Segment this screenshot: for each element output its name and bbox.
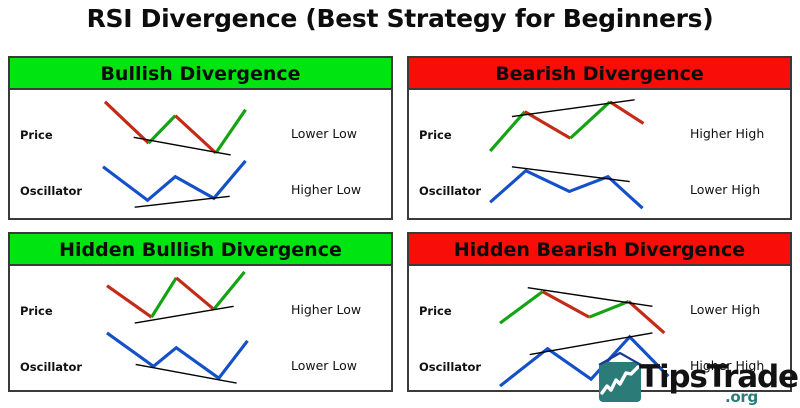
price-trendline bbox=[528, 288, 653, 307]
chart-bullish-divergence bbox=[10, 90, 391, 218]
tipstrade-logo: TipsTrade .org bbox=[599, 360, 791, 408]
panel-body-hidden-bullish: Price Oscillator Higher Low Lower Low bbox=[10, 266, 391, 390]
panel-bearish-divergence: Bearish Divergence Price Oscillator High… bbox=[407, 56, 792, 220]
panel-body-hidden-bearish: Price Oscillator Lower High Higher High bbox=[409, 266, 790, 390]
divergence-panel-grid: Bullish Divergence Price Oscillator Lowe… bbox=[0, 56, 800, 396]
price-leg-up-1 bbox=[490, 112, 525, 151]
price-leg-down-1 bbox=[107, 286, 152, 317]
panel-bullish-divergence: Bullish Divergence Price Oscillator Lowe… bbox=[8, 56, 393, 220]
price-leg-down-1 bbox=[105, 102, 149, 143]
panel-title-hidden-bearish: Hidden Bearish Divergence bbox=[409, 234, 790, 266]
oscillator-line bbox=[107, 333, 248, 378]
logo-chart-line-icon bbox=[599, 362, 641, 402]
logo-roof-icon bbox=[598, 351, 642, 365]
price-leg-up-1 bbox=[149, 116, 176, 144]
price-leg-down-2 bbox=[175, 116, 216, 153]
price-leg-down-2 bbox=[176, 278, 214, 309]
price-leg-up-1 bbox=[152, 278, 177, 317]
logo-tld: .org bbox=[725, 388, 758, 406]
price-leg-down-2 bbox=[610, 102, 644, 124]
price-leg-up-2 bbox=[216, 110, 246, 153]
price-leg-down-1 bbox=[525, 112, 571, 139]
panel-title-bullish: Bullish Divergence bbox=[10, 58, 391, 90]
chart-bearish-divergence bbox=[409, 90, 790, 218]
price-leg-up-2 bbox=[214, 272, 245, 309]
logo-chart-line-svg bbox=[599, 362, 641, 402]
panel-hidden-bullish-divergence: Hidden Bullish Divergence Price Oscillat… bbox=[8, 232, 393, 392]
panel-body-bearish: Price Oscillator Higher High Lower High bbox=[409, 90, 790, 218]
price-leg-up-1 bbox=[500, 292, 543, 323]
price-leg-up-2 bbox=[589, 301, 629, 317]
panel-body-bullish: Price Oscillator Lower Low Higher Low bbox=[10, 90, 391, 218]
chart-hidden-bullish-divergence bbox=[10, 266, 391, 390]
oscillator-line bbox=[103, 161, 246, 200]
logo-roof-svg bbox=[598, 352, 642, 365]
price-trendline bbox=[512, 100, 635, 117]
panel-title-bearish: Bearish Divergence bbox=[409, 58, 790, 90]
price-trendline bbox=[134, 137, 231, 155]
panel-title-hidden-bullish: Hidden Bullish Divergence bbox=[10, 234, 391, 266]
panel-hidden-bearish-divergence: Hidden Bearish Divergence Price Oscillat… bbox=[407, 232, 792, 392]
oscillator-line bbox=[490, 171, 642, 208]
page-title: RSI Divergence (Best Strategy for Beginn… bbox=[0, 4, 800, 33]
logo-wordmark: TipsTrade bbox=[639, 360, 798, 394]
